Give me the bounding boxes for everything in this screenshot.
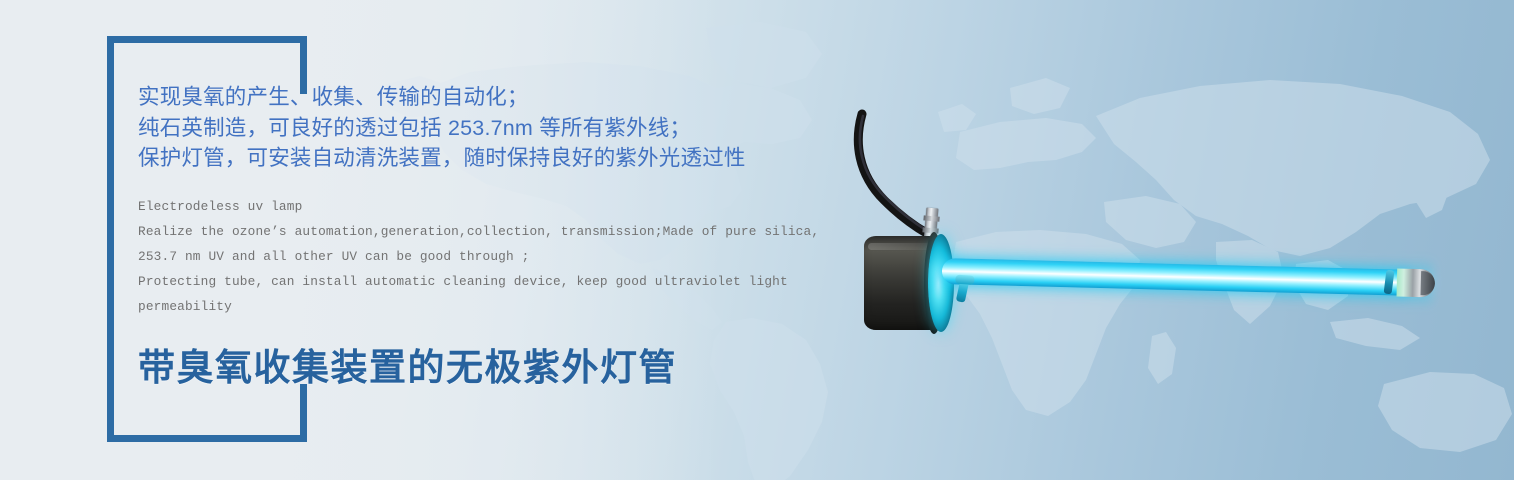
ozone-outlet-near [956,279,969,302]
product-banner: 实现臭氧的产生、收集、传输的自动化； 纯石英制造，可良好的透过包括 253.7n… [0,0,1514,480]
uv-quartz-tube [942,258,1417,296]
frame-top-bar [107,36,307,43]
chinese-feature-line-2: 纯石英制造，可良好的透过包括 253.7nm 等所有紫外线； [138,113,858,144]
frame-bottom-right-stub [300,384,307,442]
cable-connector [924,208,939,243]
uv-tube-end-cap [1397,269,1436,298]
banner-text-content: 实现臭氧的产生、收集、传输的自动化； 纯石英制造，可良好的透过包括 253.7n… [138,82,858,391]
english-line-1: Electrodeless uv lamp [138,194,828,219]
power-cable [836,108,996,248]
frame-bottom-bar [107,435,307,442]
lamp-emitter-face [928,234,954,332]
english-description: Electrodeless uv lamp Realize the ozone’… [138,194,828,319]
chinese-feature-list: 实现臭氧的产生、收集、传输的自动化； 纯石英制造，可良好的透过包括 253.7n… [138,82,858,174]
uv-tube-body [942,258,1417,296]
english-line-2: Realize the ozone’s automation,generatio… [138,219,828,269]
chinese-feature-line-3: 保护灯管，可安装自动清洗装置，随时保持良好的紫外光透过性 [138,143,858,174]
ozone-outlet-far [1384,270,1395,295]
chinese-feature-line-1: 实现臭氧的产生、收集、传输的自动化； [138,82,858,113]
lamp-housing-rim [924,232,944,334]
frame-left-bar [107,36,114,442]
product-headline: 带臭氧收集装置的无极紫外灯管 [138,345,858,391]
english-line-3: Protecting tube, can install automatic c… [138,269,828,319]
lamp-housing [864,236,941,330]
uv-lamp-product-image [836,108,1456,328]
uv-tube-glow [931,247,1432,308]
